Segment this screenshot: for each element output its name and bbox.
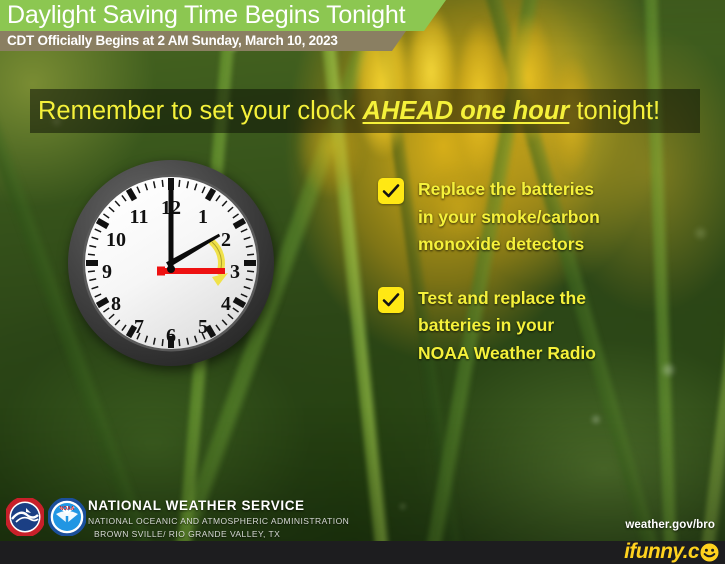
clock-numeral-1: 1 xyxy=(198,206,208,228)
agency-parent-name: NATIONAL OCEANIC AND ATMOSPHERIC ADMINIS… xyxy=(88,515,349,528)
clock-numeral-10: 10 xyxy=(106,229,126,251)
smiley-face-icon xyxy=(700,543,719,562)
headline-emphasis: AHEAD one hour xyxy=(363,97,570,125)
daylight-saving-poster: Daylight Saving Time Begins Tonight CDT … xyxy=(0,0,725,564)
checkbox-checked-icon[interactable] xyxy=(378,178,404,204)
agency-office: BROWN SVILLE/ RIO GRANDE VALLEY, TX xyxy=(94,528,349,541)
clock-numeral-2: 2 xyxy=(221,229,231,251)
weather-url[interactable]: weather.gov/bro xyxy=(625,519,715,531)
noaa-logo: NOAA xyxy=(48,498,86,536)
clock-numeral-11: 11 xyxy=(130,206,149,228)
list-item: Replace the batteries in your smoke/carb… xyxy=(378,176,698,259)
clock-numeral-4: 4 xyxy=(221,293,231,315)
list-item-line: Replace the batteries xyxy=(418,176,600,204)
clock-numeral-6: 6 xyxy=(166,325,176,347)
clock-numeral-8: 8 xyxy=(111,293,121,315)
list-item: Test and replace the batteries in your N… xyxy=(378,285,698,368)
bottom-bar xyxy=(0,541,725,564)
clock-center-cap xyxy=(167,265,175,273)
checkbox-checked-icon[interactable] xyxy=(378,287,404,313)
page-title: Daylight Saving Time Begins Tonight xyxy=(7,0,405,31)
list-item-line: monoxide detectors xyxy=(418,231,600,259)
clock-numeral-3: 3 xyxy=(230,261,240,283)
list-item-line: Test and replace the xyxy=(418,285,596,313)
svg-text:NOAA: NOAA xyxy=(60,506,75,512)
agency-name: NATIONAL WEATHER SERVICE xyxy=(88,498,349,514)
clock-numeral-9: 9 xyxy=(102,261,112,283)
list-item-line: NOAA Weather Radio xyxy=(418,340,596,368)
ifunny-watermark-text: ifunny.c xyxy=(624,540,699,564)
page-subtitle: CDT Officially Begins at 2 AM Sunday, Ma… xyxy=(7,31,338,51)
ifunny-watermark: ifunny.c xyxy=(624,540,719,564)
list-item-line: in your smoke/carbon xyxy=(418,204,600,232)
national-weather-service-logo xyxy=(6,498,44,536)
headline: Remember to set your clock AHEAD one hou… xyxy=(38,89,698,133)
headline-suffix: tonight! xyxy=(569,97,660,125)
analog-wall-clock: 12 1 2 3 4 5 6 7 8 9 10 11 xyxy=(67,159,275,367)
list-item-text: Replace the batteries in your smoke/carb… xyxy=(418,176,600,259)
list-item-line: batteries in your xyxy=(418,312,596,340)
clock-numeral-5: 5 xyxy=(198,316,208,338)
list-item-text: Test and replace the batteries in your N… xyxy=(418,285,596,368)
reminder-list: Replace the batteries in your smoke/carb… xyxy=(378,176,698,393)
agency-identification: NATIONAL WEATHER SERVICE NATIONAL OCEANI… xyxy=(88,498,349,541)
clock-numeral-7: 7 xyxy=(134,316,144,338)
headline-prefix: Remember to set your clock xyxy=(38,97,363,125)
clock-minute-hand xyxy=(169,190,174,269)
